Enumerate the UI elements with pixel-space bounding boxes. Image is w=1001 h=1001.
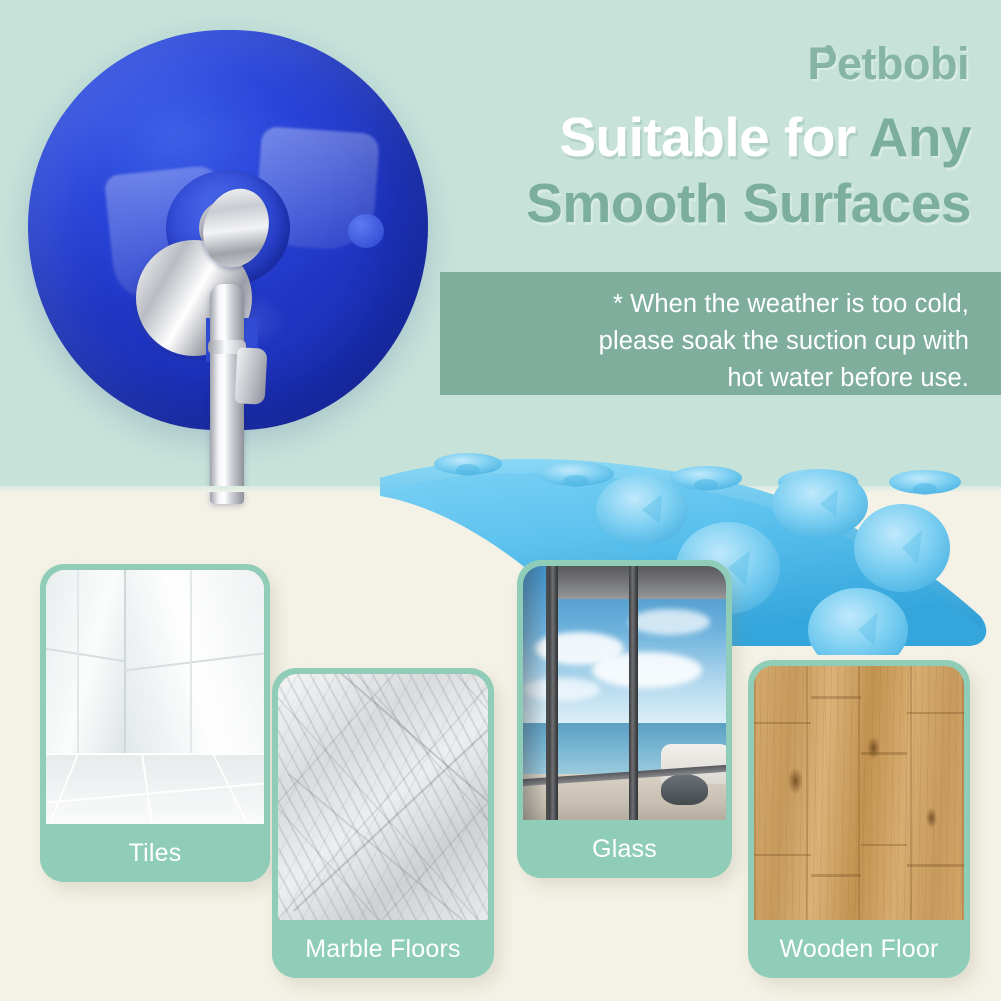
headline-line-2: Smooth Surfaces <box>351 170 971 236</box>
headline-accent-part: Any <box>869 106 971 168</box>
hero-suction-cup-image <box>18 22 438 462</box>
card-label-glass: Glass <box>523 820 726 878</box>
surface-card-tiles[interactable]: Tiles <box>40 564 270 882</box>
page-title: Suitable for Any Smooth Surfaces <box>351 104 971 236</box>
care-note-text: * When the weather is too cold, please s… <box>469 286 969 397</box>
surface-cards: Tiles Marble Floors Glass <box>0 492 1001 1001</box>
snap-hook-lever <box>235 347 268 404</box>
tiles-photo <box>46 570 264 824</box>
headline-line-1: Suitable for Any <box>351 104 971 170</box>
marble-photo <box>278 674 488 920</box>
hero-panel: Petbobi Suitable for Any Smooth Surfaces… <box>0 0 1001 492</box>
surface-card-wood[interactable]: Wooden Floor <box>748 660 970 978</box>
surface-card-glass[interactable]: Glass <box>517 560 732 878</box>
note-band: * When the weather is too cold, please s… <box>440 272 1001 395</box>
product-infographic: Petbobi Suitable for Any Smooth Surfaces… <box>0 0 1001 1001</box>
card-label-tiles: Tiles <box>46 824 264 882</box>
card-label-wood: Wooden Floor <box>754 920 964 978</box>
wood-photo <box>754 666 964 920</box>
logo-dot-icon <box>824 45 833 54</box>
card-label-marble: Marble Floors <box>278 920 488 978</box>
glass-photo <box>523 566 726 820</box>
brand-logo: Petbobi <box>808 38 970 90</box>
surface-card-marble[interactable]: Marble Floors <box>272 668 494 978</box>
headline-white-part: Suitable for <box>559 106 868 168</box>
